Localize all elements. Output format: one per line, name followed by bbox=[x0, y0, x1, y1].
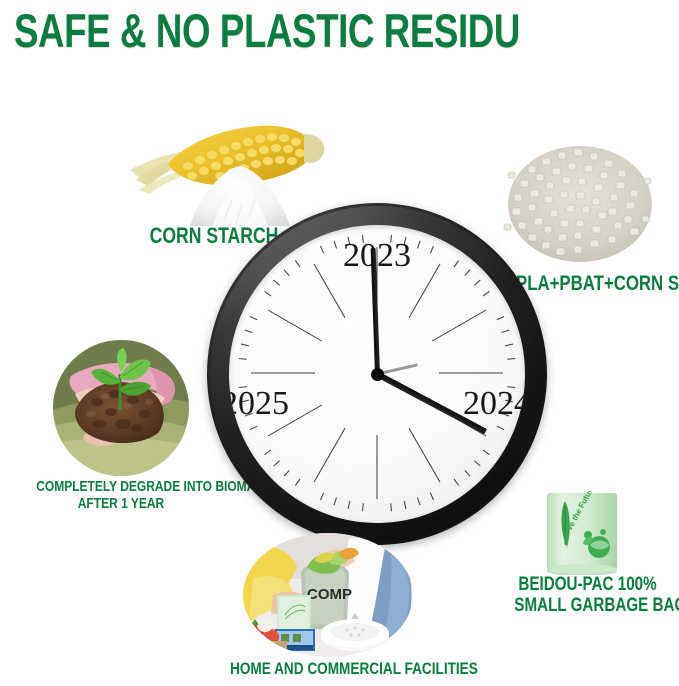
biomass-seedling-image bbox=[53, 340, 189, 476]
caption-line: COMPLETELY DEGRADE INTO BIOMASS bbox=[36, 479, 206, 496]
clock-year-2024: 2024 bbox=[463, 385, 525, 423]
infographic-canvas: SAFE & NO PLASTIC RESIDU bbox=[0, 0, 679, 686]
compost-bin-text: COMP bbox=[307, 586, 352, 603]
page-title: SAFE & NO PLASTIC RESIDU bbox=[14, 6, 520, 56]
caption-garbage-bags: BEIDOU-PAC 100% SMALL GARBAGE BAGS bbox=[496, 574, 679, 617]
caption-facilities: HOME AND COMMERCIAL FACILITIES bbox=[205, 659, 455, 678]
garbage-bag-roll-image: ve the Future bbox=[541, 491, 623, 575]
wall-clock: 2023 2024 2025 bbox=[207, 203, 547, 545]
clock-center-hub bbox=[371, 368, 384, 381]
clock-year-2023: 2023 bbox=[343, 237, 411, 275]
clock-face: 2023 2024 2025 bbox=[229, 225, 525, 523]
caption-biomass: COMPLETELY DEGRADE INTO BIOMASS AFTER 1 … bbox=[15, 479, 227, 513]
clock-year-2025: 2025 bbox=[229, 385, 289, 423]
home-facilities-image: COMP bbox=[243, 533, 413, 657]
caption-line: AFTER 1 YEAR bbox=[36, 496, 206, 513]
caption-line: SMALL GARBAGE BAGS bbox=[514, 595, 660, 616]
caption-line: HOME AND COMMERCIAL FACILITIES bbox=[230, 659, 430, 678]
caption-line: BEIDOU-PAC 100% bbox=[514, 574, 660, 595]
